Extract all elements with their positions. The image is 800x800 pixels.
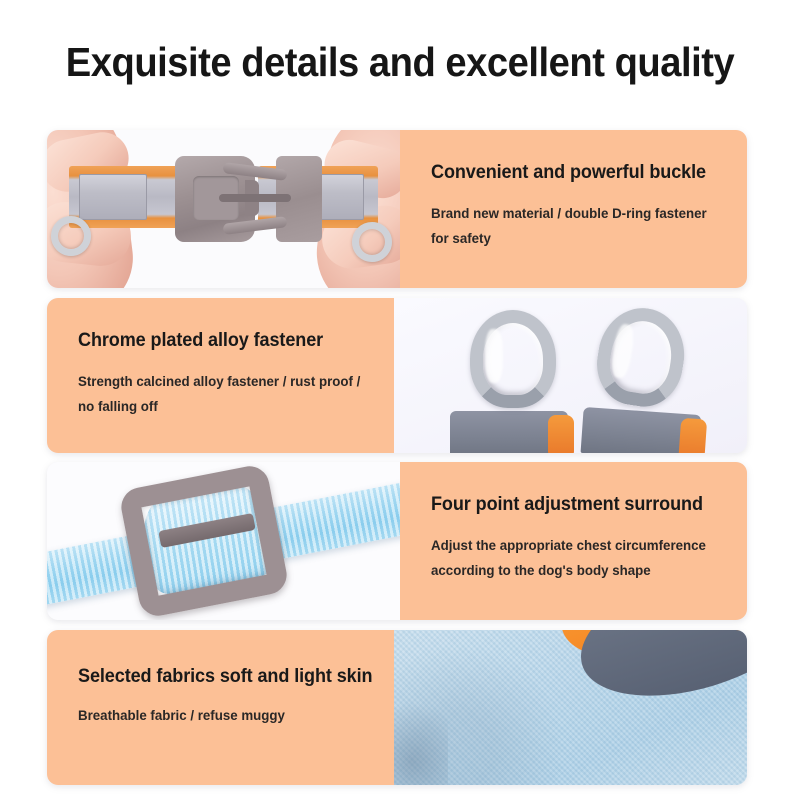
feature-row-fabric: Selected fabrics soft and light skin Bre… xyxy=(47,630,747,785)
feature-row-buckle: Convenient and powerful buckle Brand new… xyxy=(47,130,747,288)
feature-heading: Selected fabrics soft and light skin xyxy=(78,666,361,688)
d-ring-left xyxy=(51,216,91,256)
slider-adjuster xyxy=(118,463,290,619)
buckle-photo xyxy=(47,130,400,288)
feature-heading: Four point adjustment surround xyxy=(431,494,714,516)
product-feature-infographic: Exquisite details and excellent quality … xyxy=(0,0,800,800)
webbing-strap xyxy=(450,411,568,453)
buckle-prong-middle xyxy=(219,194,291,202)
feature-description: Brand new material / double D-ring faste… xyxy=(431,201,714,251)
fabric-shadow xyxy=(394,702,448,785)
feature-text-buckle: Convenient and powerful buckle Brand new… xyxy=(400,130,747,288)
feature-row-alloy-fastener: Chrome plated alloy fastener Strength ca… xyxy=(47,298,747,453)
reflective-patch-left xyxy=(79,174,147,220)
webbing-strap xyxy=(581,407,702,453)
feature-text-four-point-adjustment: Four point adjustment surround Adjust th… xyxy=(400,462,747,620)
feature-description: Adjust the appropriate chest circumferen… xyxy=(431,533,714,583)
feature-text-fabric: Selected fabrics soft and light skin Bre… xyxy=(47,630,394,785)
feature-row-four-point-adjustment: Four point adjustment surround Adjust th… xyxy=(47,462,747,620)
feature-description: Breathable fabric / refuse muggy xyxy=(78,703,361,728)
feature-text-alloy-fastener: Chrome plated alloy fastener Strength ca… xyxy=(47,298,394,453)
feature-heading: Convenient and powerful buckle xyxy=(431,162,714,184)
feature-heading: Chrome plated alloy fastener xyxy=(78,330,361,352)
d-ring xyxy=(591,302,691,412)
d-ring-photo xyxy=(394,298,747,453)
grey-trim xyxy=(565,630,747,721)
d-ring xyxy=(470,310,556,408)
fabric-photo xyxy=(394,630,747,785)
feature-description: Strength calcined alloy fastener / rust … xyxy=(78,369,361,419)
page-title: Exquisite details and excellent quality xyxy=(28,38,772,86)
d-ring-right xyxy=(352,222,392,262)
adjuster-photo xyxy=(47,462,400,620)
